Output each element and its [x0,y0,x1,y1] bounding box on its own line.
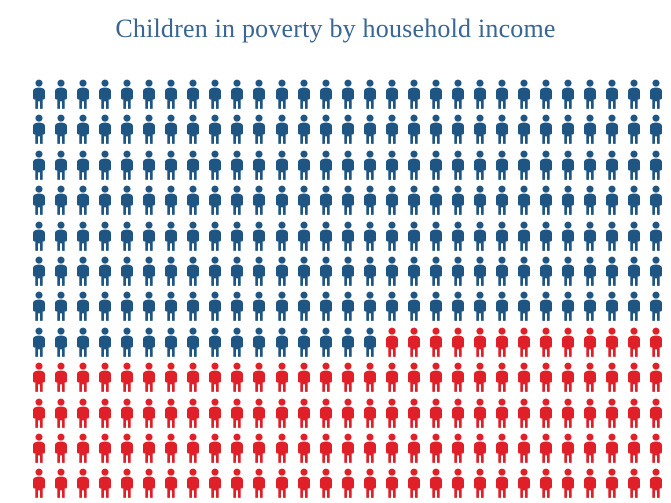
person-icon [538,79,554,109]
person-icon-not-in-poverty [185,256,207,291]
person-icon [428,221,444,251]
person-icon-not-in-poverty [97,327,119,362]
person-icon [604,327,620,357]
person-icon-in-poverty [384,433,406,468]
person-icon [626,362,642,392]
person-icon [626,291,642,321]
person-icon [450,256,466,286]
person-icon [53,185,69,215]
person-icon-in-poverty [538,398,560,433]
person-icon-in-poverty [604,468,626,503]
person-icon-not-in-poverty [53,185,75,220]
person-icon-in-poverty [494,433,516,468]
person-icon-in-poverty [251,398,273,433]
person-icon-not-in-poverty [384,150,406,185]
person-icon-in-poverty [53,433,75,468]
person-icon-in-poverty [31,468,53,503]
person-icon-not-in-poverty [450,150,472,185]
person-icon-not-in-poverty [251,150,273,185]
person-icon [582,398,598,428]
person-icon [582,362,598,392]
pictogram-row [31,398,671,433]
person-icon [428,433,444,463]
person-icon [582,433,598,463]
person-icon [207,327,223,357]
person-icon-not-in-poverty [185,114,207,149]
person-icon [251,150,267,180]
person-icon-not-in-poverty [362,327,384,362]
person-icon-not-in-poverty [472,150,494,185]
person-icon-in-poverty [582,398,604,433]
person-icon [494,185,510,215]
person-icon-in-poverty [163,433,185,468]
person-icon-in-poverty [274,362,296,397]
person-icon-in-poverty [494,362,516,397]
person-icon [428,114,444,144]
person-icon [604,150,620,180]
person-icon [604,291,620,321]
person-icon [185,291,201,321]
person-icon [626,114,642,144]
person-icon-not-in-poverty [428,150,450,185]
pictogram-row [31,327,671,362]
person-icon-in-poverty [97,398,119,433]
person-icon-not-in-poverty [53,256,75,291]
person-icon-in-poverty [362,362,384,397]
person-icon-not-in-poverty [274,114,296,149]
person-icon-not-in-poverty [31,256,53,291]
person-icon [626,256,642,286]
person-icon [318,256,334,286]
person-icon [31,221,47,251]
person-icon [119,433,135,463]
person-icon [207,468,223,498]
person-icon [648,291,664,321]
person-icon [318,79,334,109]
person-icon-not-in-poverty [384,79,406,114]
person-icon-not-in-poverty [538,256,560,291]
person-icon-in-poverty [75,398,97,433]
person-icon [53,398,69,428]
person-icon-not-in-poverty [648,114,670,149]
person-icon [472,291,488,321]
person-icon-in-poverty [406,398,428,433]
person-icon [141,433,157,463]
person-icon-in-poverty [296,398,318,433]
person-icon [428,185,444,215]
person-icon [516,433,532,463]
person-icon-not-in-poverty [472,221,494,256]
person-icon [75,114,91,144]
person-icon-not-in-poverty [428,79,450,114]
person-icon [604,433,620,463]
person-icon [406,185,422,215]
person-icon-not-in-poverty [207,114,229,149]
person-icon-not-in-poverty [97,150,119,185]
person-icon [648,79,664,109]
person-icon-not-in-poverty [340,291,362,326]
person-icon [251,79,267,109]
person-icon [141,221,157,251]
person-icon-not-in-poverty [384,185,406,220]
person-icon-not-in-poverty [648,185,670,220]
person-icon [516,150,532,180]
person-icon [494,114,510,144]
person-icon-in-poverty [472,433,494,468]
person-icon-not-in-poverty [119,221,141,256]
person-icon-in-poverty [516,362,538,397]
person-icon [251,327,267,357]
person-icon-not-in-poverty [560,185,582,220]
person-icon [340,433,356,463]
person-icon [384,185,400,215]
person-icon-not-in-poverty [472,79,494,114]
person-icon-not-in-poverty [362,291,384,326]
person-icon-not-in-poverty [318,291,340,326]
person-icon [406,114,422,144]
person-icon [296,327,312,357]
person-icon-not-in-poverty [318,327,340,362]
person-icon [163,468,179,498]
person-icon-not-in-poverty [274,185,296,220]
person-icon [560,221,576,251]
person-icon [141,150,157,180]
person-icon-not-in-poverty [251,185,273,220]
person-icon [362,150,378,180]
pictogram-row [31,256,671,291]
person-icon-not-in-poverty [318,114,340,149]
person-icon-not-in-poverty [229,185,251,220]
person-icon [384,291,400,321]
person-icon [516,398,532,428]
person-icon [229,185,245,215]
person-icon [340,221,356,251]
person-icon [472,468,488,498]
person-icon [406,433,422,463]
person-icon [185,362,201,392]
person-icon [318,327,334,357]
person-icon [119,468,135,498]
person-icon-not-in-poverty [648,291,670,326]
person-icon [340,291,356,321]
person-icon [340,150,356,180]
person-icon [340,362,356,392]
person-icon-in-poverty [75,468,97,503]
person-icon [582,221,598,251]
person-icon-not-in-poverty [648,221,670,256]
person-icon-not-in-poverty [362,256,384,291]
person-icon-not-in-poverty [31,185,53,220]
person-icon-not-in-poverty [119,327,141,362]
person-icon-in-poverty [560,468,582,503]
person-icon [53,362,69,392]
person-icon [53,256,69,286]
person-icon [494,327,510,357]
person-icon [53,327,69,357]
person-icon-not-in-poverty [185,221,207,256]
person-icon [31,468,47,498]
person-icon [163,150,179,180]
person-icon-not-in-poverty [384,221,406,256]
person-icon [362,291,378,321]
person-icon [53,79,69,109]
person-icon [428,291,444,321]
person-icon-in-poverty [582,327,604,362]
person-icon [472,185,488,215]
person-icon-in-poverty [141,362,163,397]
person-icon-not-in-poverty [384,291,406,326]
person-icon-not-in-poverty [472,291,494,326]
person-icon [141,291,157,321]
person-icon [362,327,378,357]
person-icon [274,291,290,321]
person-icon [119,327,135,357]
person-icon-in-poverty [340,468,362,503]
person-icon-not-in-poverty [207,256,229,291]
person-icon [494,398,510,428]
person-icon [229,468,245,498]
person-icon-not-in-poverty [274,291,296,326]
person-icon [296,185,312,215]
person-icon [97,150,113,180]
person-icon [362,398,378,428]
person-icon-not-in-poverty [406,150,428,185]
person-icon [406,398,422,428]
person-icon [450,185,466,215]
person-icon [119,114,135,144]
person-icon-in-poverty [31,433,53,468]
person-icon [450,79,466,109]
person-icon [318,221,334,251]
person-icon-not-in-poverty [340,256,362,291]
person-icon [516,291,532,321]
person-icon-in-poverty [296,362,318,397]
person-icon [274,185,290,215]
person-icon-in-poverty [626,362,648,397]
person-icon-not-in-poverty [163,256,185,291]
person-icon-in-poverty [274,468,296,503]
person-icon [516,327,532,357]
person-icon-in-poverty [450,362,472,397]
person-icon [274,221,290,251]
person-icon-in-poverty [229,468,251,503]
person-icon [494,362,510,392]
person-icon [340,327,356,357]
person-icon-in-poverty [97,433,119,468]
person-icon-not-in-poverty [31,221,53,256]
person-icon [538,114,554,144]
person-icon-in-poverty [251,433,273,468]
person-icon [560,433,576,463]
person-icon-not-in-poverty [75,185,97,220]
person-icon-not-in-poverty [472,256,494,291]
person-icon [472,327,488,357]
person-icon-not-in-poverty [97,221,119,256]
person-icon [318,468,334,498]
person-icon-in-poverty [163,362,185,397]
person-icon-not-in-poverty [406,79,428,114]
person-icon-in-poverty [207,468,229,503]
person-icon [428,398,444,428]
person-icon-in-poverty [406,327,428,362]
person-icon-not-in-poverty [450,256,472,291]
person-icon [119,185,135,215]
person-icon-in-poverty [648,468,670,503]
person-icon-not-in-poverty [31,114,53,149]
person-icon [362,221,378,251]
person-icon [362,433,378,463]
person-icon [318,362,334,392]
person-icon-not-in-poverty [538,291,560,326]
person-icon-not-in-poverty [604,221,626,256]
person-icon [318,185,334,215]
person-icon-not-in-poverty [450,185,472,220]
person-icon-in-poverty [604,362,626,397]
person-icon [406,256,422,286]
person-icon [119,221,135,251]
person-icon [185,79,201,109]
person-icon-in-poverty [97,362,119,397]
person-icon-not-in-poverty [516,150,538,185]
person-icon-not-in-poverty [406,256,428,291]
person-icon [560,79,576,109]
person-icon [648,398,664,428]
person-icon-not-in-poverty [318,150,340,185]
person-icon [97,79,113,109]
person-icon [648,150,664,180]
person-icon [119,150,135,180]
person-icon-not-in-poverty [626,114,648,149]
person-icon-in-poverty [296,468,318,503]
person-icon [560,150,576,180]
person-icon [296,362,312,392]
person-icon-not-in-poverty [296,327,318,362]
person-icon [207,433,223,463]
person-icon-not-in-poverty [494,185,516,220]
person-icon-not-in-poverty [296,114,318,149]
person-icon [406,362,422,392]
person-icon-in-poverty [582,433,604,468]
person-icon [296,150,312,180]
person-icon-not-in-poverty [560,256,582,291]
person-icon-not-in-poverty [141,291,163,326]
person-icon-not-in-poverty [494,256,516,291]
person-icon-in-poverty [53,398,75,433]
person-icon-in-poverty [141,468,163,503]
person-icon-not-in-poverty [163,114,185,149]
pictogram-row [31,79,671,114]
person-icon-in-poverty [318,362,340,397]
person-icon [428,327,444,357]
person-icon-not-in-poverty [648,79,670,114]
person-icon-not-in-poverty [185,150,207,185]
person-icon-in-poverty [450,398,472,433]
person-icon [31,398,47,428]
person-icon [141,256,157,286]
person-icon-not-in-poverty [141,185,163,220]
person-icon [428,79,444,109]
person-icon-not-in-poverty [31,150,53,185]
person-icon [31,114,47,144]
person-icon [362,362,378,392]
person-icon-in-poverty [340,433,362,468]
person-icon [141,79,157,109]
person-icon [406,79,422,109]
person-icon-not-in-poverty [340,185,362,220]
person-icon [340,256,356,286]
person-icon [428,362,444,392]
person-icon-not-in-poverty [538,185,560,220]
person-icon-not-in-poverty [274,221,296,256]
person-icon [185,398,201,428]
person-icon [207,114,223,144]
person-icon [648,433,664,463]
person-icon [516,221,532,251]
person-icon [582,79,598,109]
person-icon [494,468,510,498]
person-icon-in-poverty [75,362,97,397]
person-icon-in-poverty [472,468,494,503]
person-icon-in-poverty [428,362,450,397]
person-icon-in-poverty [340,398,362,433]
person-icon [450,362,466,392]
person-icon [516,468,532,498]
person-icon-not-in-poverty [185,185,207,220]
person-icon [450,114,466,144]
person-icon-not-in-poverty [494,114,516,149]
person-icon-in-poverty [450,468,472,503]
person-icon [141,114,157,144]
person-icon [163,291,179,321]
person-icon [75,362,91,392]
person-icon [31,291,47,321]
person-icon [406,221,422,251]
person-icon-in-poverty [163,398,185,433]
person-icon [141,185,157,215]
person-icon-not-in-poverty [538,150,560,185]
person-icon [538,256,554,286]
person-icon [141,327,157,357]
person-icon-not-in-poverty [406,291,428,326]
person-icon-in-poverty [31,398,53,433]
person-icon [119,362,135,392]
person-icon [450,291,466,321]
person-icon [494,433,510,463]
person-icon [560,327,576,357]
person-icon-not-in-poverty [626,221,648,256]
person-icon-not-in-poverty [251,221,273,256]
person-icon-not-in-poverty [362,185,384,220]
person-icon-not-in-poverty [560,221,582,256]
person-icon [626,79,642,109]
person-icon-in-poverty [141,398,163,433]
person-icon-in-poverty [229,433,251,468]
person-icon [97,256,113,286]
person-icon-not-in-poverty [163,185,185,220]
pictogram-row [31,221,671,256]
person-icon-not-in-poverty [163,291,185,326]
person-icon-in-poverty [75,433,97,468]
person-icon-not-in-poverty [582,150,604,185]
person-icon [538,468,554,498]
person-icon [582,150,598,180]
person-icon [163,114,179,144]
person-icon [648,256,664,286]
person-icon [450,221,466,251]
person-icon-not-in-poverty [406,221,428,256]
person-icon [340,398,356,428]
person-icon [626,468,642,498]
